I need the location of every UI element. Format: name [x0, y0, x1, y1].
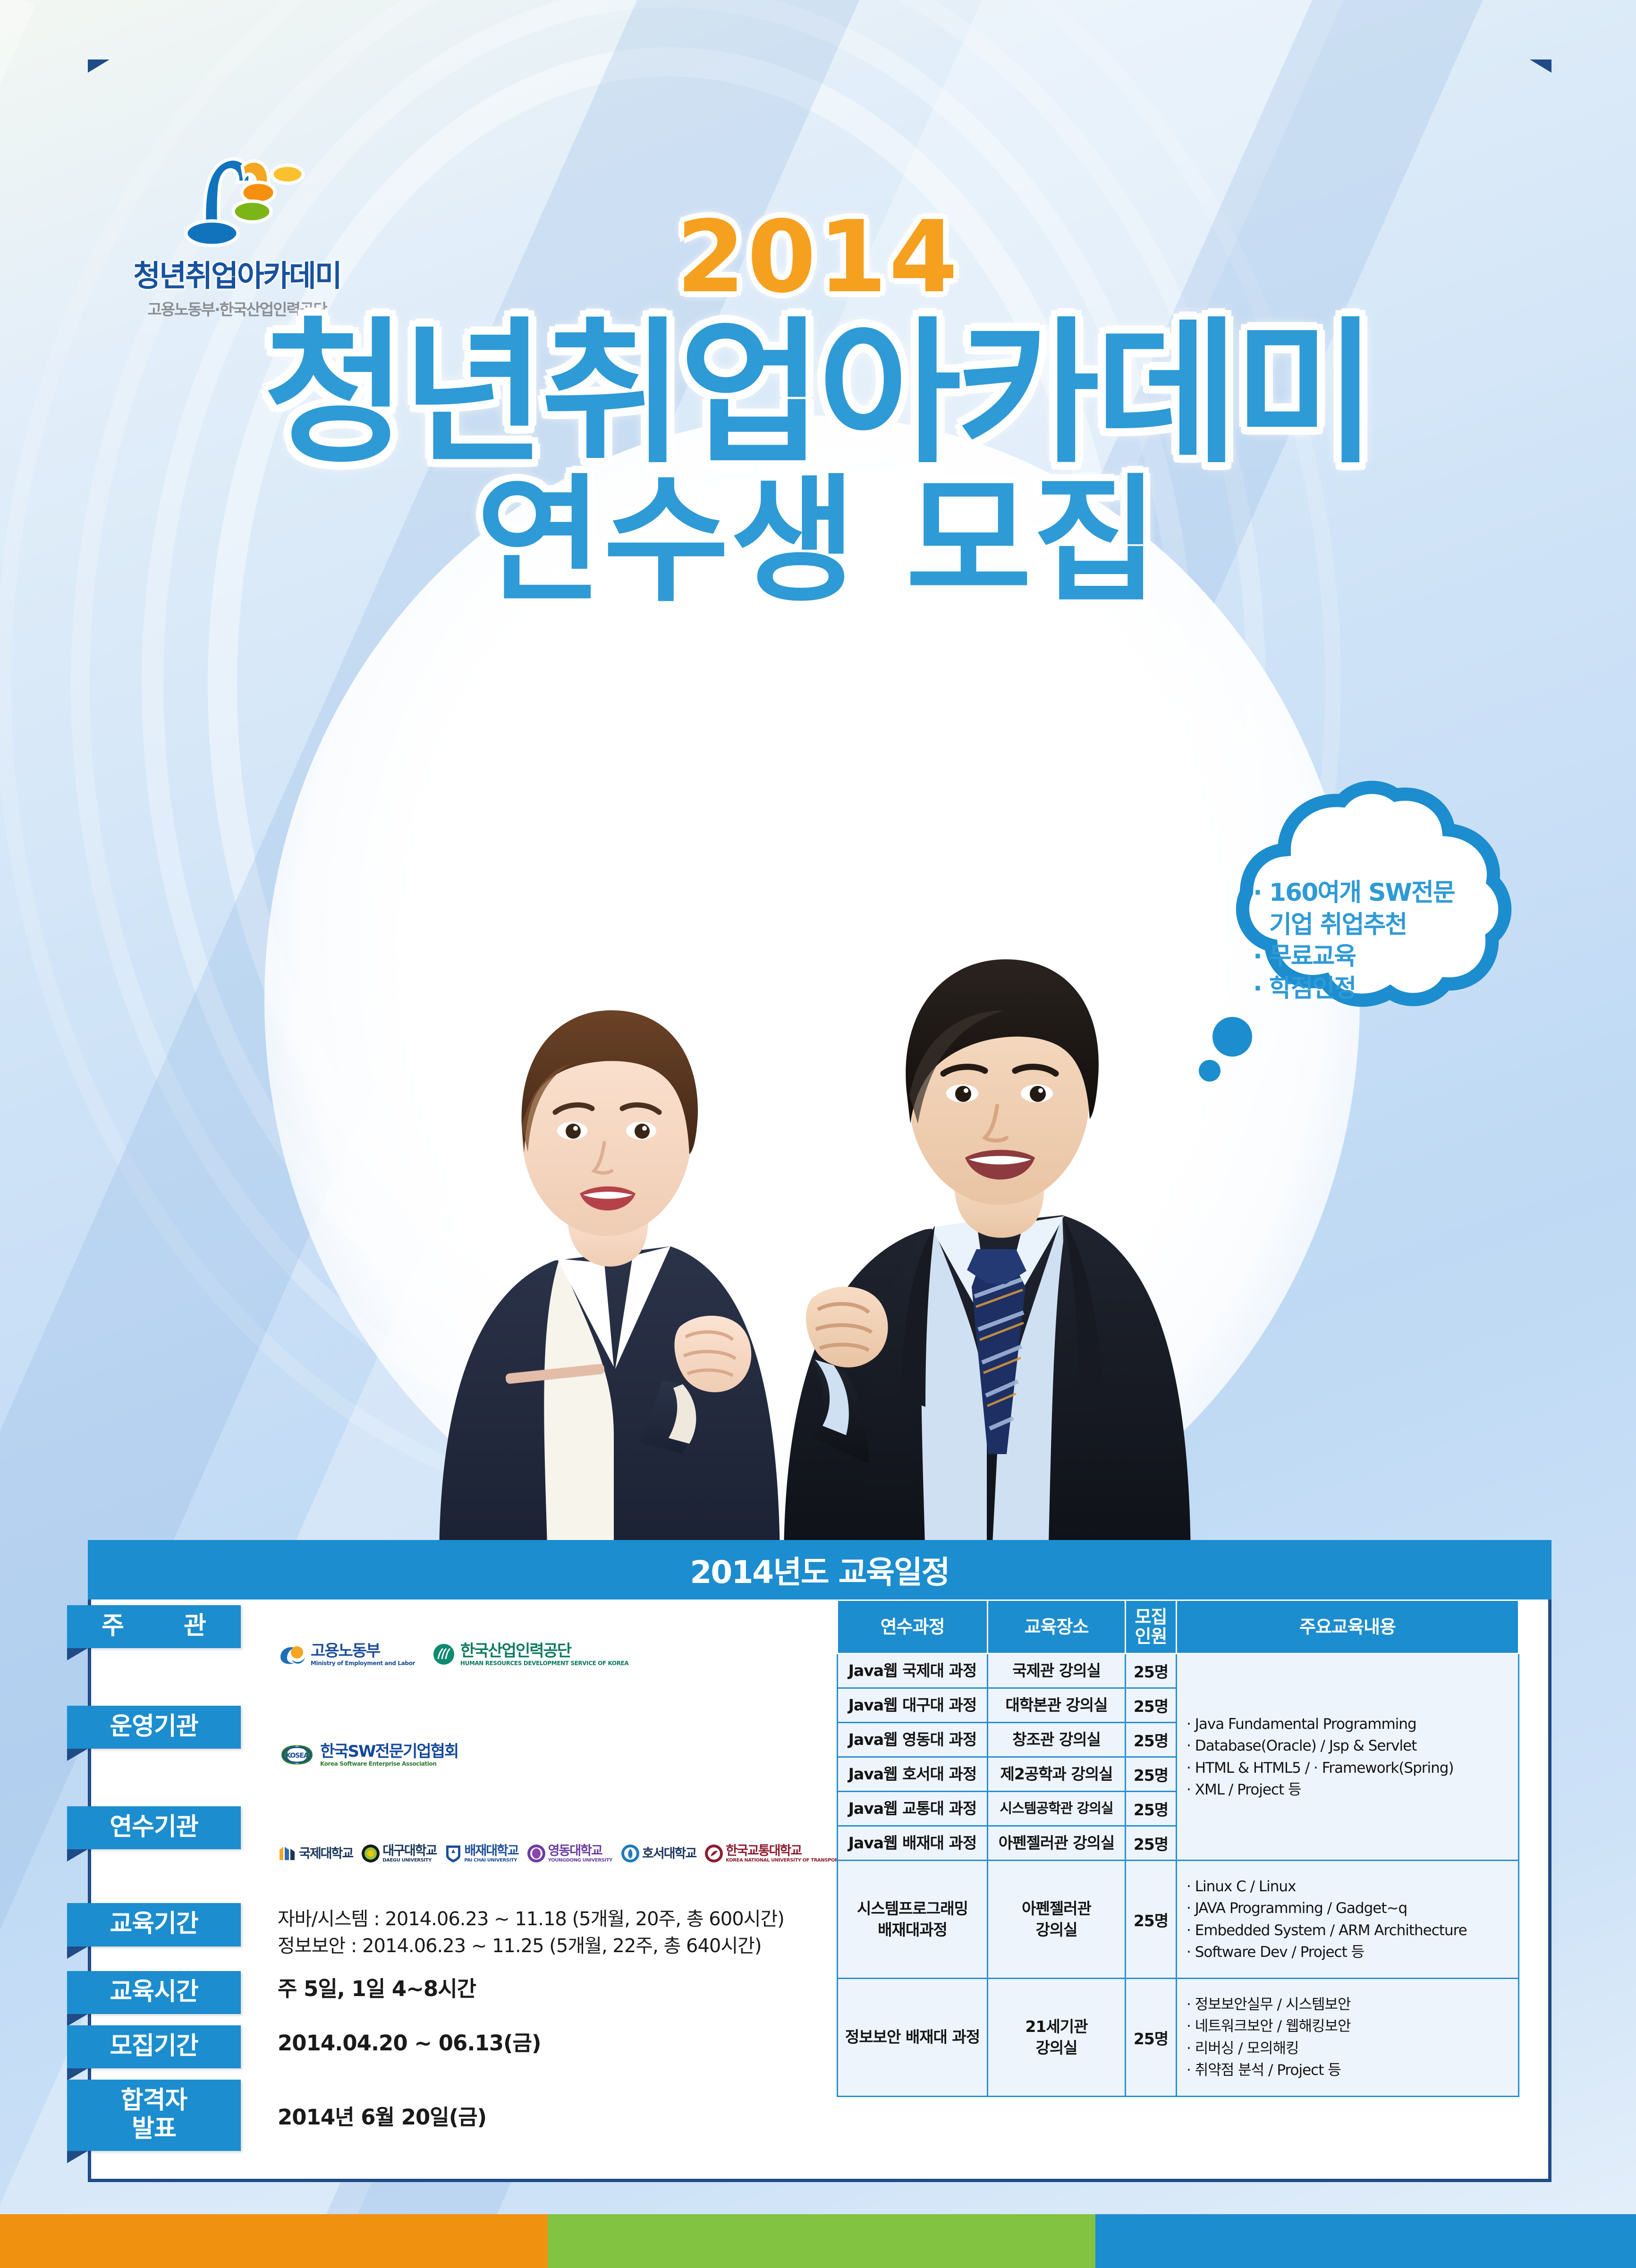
bubble-line: · 160여개 SW전문 — [1253, 877, 1503, 909]
cell-course: 시스템프로그래밍 배재대과정 — [838, 1861, 988, 1979]
cell-course: 정보보안 배재대 과정 — [838, 1979, 988, 2097]
mel-name-en: Ministry of Employment and Labor — [311, 1660, 415, 1666]
paichai-univ-logo-icon: 배재대학교 PAI CHAI UNIVERSITY — [445, 1844, 518, 1863]
uni-name-ko: 배재대학교 — [464, 1845, 518, 1857]
info-value-apply: 2014.04.20 ~ 06.13(금) — [262, 2025, 824, 2058]
kosea-logo-icon: KOSEA 한국SW전문기업협회 Korea Software Enterpri… — [278, 1743, 458, 1767]
cell-count: 25명 — [1126, 1723, 1177, 1757]
uni-name-en: YOUNGDONG UNIVERSITY — [548, 1858, 612, 1863]
footer-stripe-blue — [1095, 2214, 1636, 2268]
info-label-operator: 운영기관 — [67, 1706, 241, 1749]
title-year: 2014 — [0, 208, 1636, 307]
cell-count: 25명 — [1126, 1826, 1177, 1861]
info-label-host: 주 관 — [67, 1605, 241, 1648]
poster-title: 2014 청년취업아카데미 연수생 모집 — [0, 208, 1636, 616]
hrd-name-ko: 한국산업인력공단 — [460, 1643, 628, 1659]
cell-place: 시스템공학관 강의실 — [988, 1792, 1126, 1826]
models-photo — [368, 699, 1228, 1563]
bubble-text: · 160여개 SW전문 기업 취업추천 · 무료교육 · 학점인정 — [1253, 877, 1503, 1005]
cell-place: 21세기관 강의실 — [988, 1979, 1126, 2097]
footer-stripe-green — [548, 2214, 1095, 2268]
mel-logo-icon: 고용노동부 Ministry of Employment and Labor — [278, 1643, 415, 1666]
table-row: Java웹 국제대 과정 국제관 강의실 25명 · Java Fundamen… — [838, 1654, 1519, 1688]
kosea-name-ko: 한국SW전문기업협회 — [320, 1743, 458, 1760]
training-logo-strip: 국제대학교 대구대학교 DAEGU UNIVERSITY — [278, 1839, 856, 1863]
info-value-result: 2014년 6월 20일(금) — [262, 2080, 824, 2133]
daegu-univ-logo-icon: 대구대학교 DAEGU UNIVERSITY — [361, 1844, 436, 1863]
col-place: 교육장소 — [988, 1600, 1126, 1654]
bubble-line: · 무료교육 — [1253, 941, 1503, 973]
info-row-hours: 교육시간 주 5일, 1일 4~8시간 — [88, 1971, 824, 2014]
cell-place: 아펜젤러관 강의실 — [988, 1861, 1126, 1979]
info-list: 주 관 고용노동부 Ministry of Employment and Lab… — [88, 1605, 824, 2151]
bubble-line: · 학점인정 — [1253, 973, 1503, 1005]
info-row-training: 연수기관 국제대학교 — [88, 1806, 824, 1894]
mel-name-ko: 고용노동부 — [311, 1643, 415, 1659]
info-label-result: 합격자 발표 — [67, 2080, 241, 2151]
hoseo-univ-logo-icon: 호서대학교 — [621, 1844, 696, 1863]
info-row-host: 주 관 고용노동부 Ministry of Employment and Lab… — [88, 1605, 824, 1696]
cell-place: 창조관 강의실 — [988, 1723, 1126, 1757]
info-value-period: 자바/시스템 : 2014.06.23 ~ 11.18 (5개월, 20주, 총… — [262, 1903, 824, 1960]
cell-place: 제2공학과 강의실 — [988, 1757, 1126, 1792]
poster-canvas: 청년취업아카데미 고용노동부·한국산업인력공단 2014 청년취업아카데미 연수… — [0, 0, 1636, 2268]
svg-text:KOSEA: KOSEA — [286, 1752, 309, 1760]
title-headline: 청년취업아카데미 — [0, 310, 1636, 478]
transport-univ-logo-icon: 한국교통대학교 KOREA NATIONAL UNIVERSITY OF TRA… — [704, 1844, 856, 1863]
col-count: 모집 인원 — [1126, 1600, 1177, 1654]
table-header-row: 연수과정 교육장소 모집 인원 주요교육내용 — [838, 1600, 1519, 1654]
cell-course: Java웹 영동대 과정 — [838, 1723, 988, 1757]
uni-name-ko: 영동대학교 — [548, 1845, 612, 1857]
info-row-period: 교육기간 자바/시스템 : 2014.06.23 ~ 11.18 (5개월, 2… — [88, 1903, 824, 1960]
cell-course: Java웹 교통대 과정 — [838, 1792, 988, 1826]
uni-name-en: DAEGU UNIVERSITY — [382, 1858, 436, 1863]
info-label-period: 교육기간 — [67, 1903, 241, 1946]
cell-count: 25명 — [1126, 1654, 1177, 1688]
cell-content: · 정보보안실무 / 시스템보안 · 네트워크보안 / 웹해킹보안 · 리버싱 … — [1177, 1979, 1519, 2097]
cell-course: Java웹 배재대 과정 — [838, 1826, 988, 1861]
header-fold-right — [1530, 59, 1551, 73]
cell-count: 25명 — [1126, 1688, 1177, 1723]
uni-name-en: PAI CHAI UNIVERSITY — [464, 1858, 518, 1863]
cell-count: 25명 — [1126, 1757, 1177, 1792]
footer-stripe-orange — [0, 2214, 548, 2268]
col-content: 주요교육내용 — [1177, 1600, 1519, 1654]
cell-course: Java웹 호서대 과정 — [838, 1757, 988, 1792]
thought-bubble: · 160여개 SW전문 기업 취업추천 · 무료교육 · 학점인정 — [1166, 774, 1525, 1086]
table-row: 정보보안 배재대 과정 21세기관 강의실 25명 · 정보보안실무 / 시스템… — [838, 1979, 1519, 2097]
bubble-line: 기업 취업추천 — [1253, 909, 1503, 941]
cell-count: 25명 — [1126, 1861, 1177, 1979]
cell-place: 대학본관 강의실 — [988, 1688, 1126, 1723]
cell-count: 25명 — [1126, 1979, 1177, 2097]
host-logo-strip: 고용노동부 Ministry of Employment and Labor 한… — [278, 1638, 824, 1666]
footer-stripes — [0, 2214, 1636, 2268]
hrdkorea-logo-icon: 한국산업인력공단 HUMAN RESOURCES DEVELOPMENT SER… — [431, 1643, 628, 1666]
info-label-apply: 모집기간 — [67, 2025, 241, 2068]
cell-course: Java웹 국제대 과정 — [838, 1654, 988, 1688]
info-row-apply: 모집기간 2014.04.20 ~ 06.13(금) — [88, 2025, 824, 2068]
info-row-operator: 운영기관 KOSEA 한국SW전문기업협회 Korea Software Ent… — [88, 1706, 824, 1797]
operator-logo-strip: KOSEA 한국SW전문기업협회 Korea Software Enterpri… — [278, 1739, 824, 1767]
schedule-header: 2014년도 교육일정 — [88, 1540, 1551, 1599]
info-label-hours: 교육시간 — [67, 1971, 241, 2014]
title-subhead: 연수생 모집 — [0, 467, 1636, 615]
cell-course: Java웹 대구대 과정 — [838, 1688, 988, 1723]
col-course: 연수과정 — [838, 1600, 988, 1654]
kosea-name-en: Korea Software Enterprise Association — [320, 1761, 458, 1767]
info-label-training: 연수기관 — [67, 1806, 241, 1849]
info-row-result: 합격자 발표 2014년 6월 20일(금) — [88, 2080, 824, 2151]
table-row: 시스템프로그래밍 배재대과정 아펜젤러관 강의실 25명 · Linux C /… — [838, 1861, 1519, 1979]
course-table: 연수과정 교육장소 모집 인원 주요교육내용 Java웹 국제대 과정 국제관 … — [837, 1599, 1519, 2097]
info-value-hours: 주 5일, 1일 4~8시간 — [262, 1971, 824, 2004]
cell-place: 아펜젤러관 강의실 — [988, 1826, 1126, 1861]
uni-name-ko: 국제대학교 — [299, 1847, 353, 1860]
cell-count: 25명 — [1126, 1792, 1177, 1826]
uni-name-ko: 호서대학교 — [642, 1847, 696, 1860]
header-fold-left — [88, 59, 110, 73]
kookje-univ-logo-icon: 국제대학교 — [278, 1844, 353, 1863]
uni-name-ko: 대구대학교 — [382, 1845, 436, 1857]
cell-java-content: · Java Fundamental Programming · Databas… — [1177, 1654, 1519, 1861]
hrd-name-en: HUMAN RESOURCES DEVELOPMENT SERVICE OF K… — [460, 1660, 628, 1666]
cell-content: · Linux C / Linux · JAVA Programming / G… — [1177, 1861, 1519, 1979]
youngdong-univ-logo-icon: 영동대학교 YOUNGDONG UNIVERSITY — [527, 1844, 612, 1863]
cell-place: 국제관 강의실 — [988, 1654, 1126, 1688]
